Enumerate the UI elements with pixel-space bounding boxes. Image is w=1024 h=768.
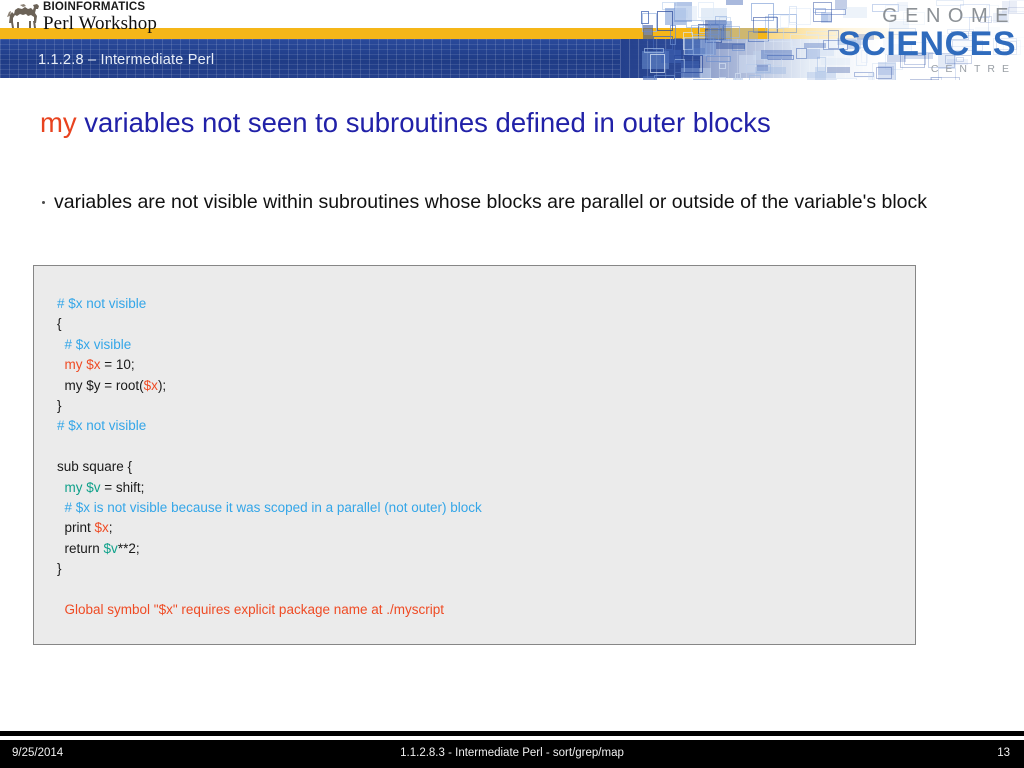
code-line: return $v**2;: [57, 539, 482, 559]
mosaic-block: [644, 48, 664, 53]
code-line: my $v = shift;: [57, 478, 482, 498]
mosaic-block: [817, 49, 834, 56]
slide-header: BIOINFORMATICS Perl Workshop 1.1.2.8 – I…: [0, 0, 1024, 80]
mosaic-block: [807, 72, 836, 80]
code-token: # $x not visible: [57, 418, 146, 433]
gsc-line-centre: CENTRE: [838, 64, 1016, 75]
footer-title: 1.1.2.8.3 - Intermediate Perl - sort/gre…: [0, 747, 1024, 759]
mosaic-block: [836, 78, 857, 80]
code-line: Global symbol "$x" requires explicit pac…: [57, 600, 482, 620]
code-line: # $x not visible: [57, 416, 482, 436]
code-token: Global symbol "$x" requires explicit pac…: [65, 602, 445, 617]
mosaic-block: [719, 63, 726, 69]
code-line: [57, 437, 482, 457]
code-token: return: [65, 541, 104, 556]
code-token: **2;: [118, 541, 140, 556]
bullet-dot-icon: [42, 201, 45, 204]
mosaic-block: [650, 54, 665, 73]
code-line: # $x is not visible because it was scope…: [57, 498, 482, 518]
bullet-item: variables are not visible within subrout…: [42, 188, 972, 218]
mosaic-block: [708, 21, 732, 41]
mosaic-block: [706, 56, 731, 62]
title-rest: variables not seen to subroutines define…: [77, 107, 771, 138]
code-token: my $v: [65, 480, 101, 495]
code-token: my $x: [65, 357, 101, 372]
page-title: my variables not seen to subroutines def…: [40, 103, 890, 142]
title-keyword: my: [40, 107, 77, 138]
code-token: ;: [109, 520, 113, 535]
mosaic-block: [739, 55, 756, 73]
mosaic-block: [719, 77, 726, 80]
perl-workshop-logo: BIOINFORMATICS Perl Workshop: [6, 1, 157, 31]
code-token: }: [57, 398, 62, 413]
code-line: print $x;: [57, 518, 482, 538]
code-line: # $x not visible: [57, 294, 482, 314]
code-token: $x: [95, 520, 109, 535]
mosaic-block: [733, 78, 743, 80]
logo-line-2: Perl Workshop: [43, 14, 157, 34]
code-content: # $x not visible{ # $x visible my $x = 1…: [57, 294, 482, 621]
code-line: [57, 580, 482, 600]
code-line: my $y = root($x);: [57, 376, 482, 396]
code-token: # $x visible: [65, 337, 132, 352]
code-token: sub square {: [57, 459, 132, 474]
mosaic-block: [813, 8, 826, 13]
mosaic-block: [749, 75, 761, 80]
code-token: }: [57, 561, 62, 576]
footer-divider: [0, 731, 1024, 736]
code-token: # $x not visible: [57, 296, 146, 311]
mosaic-block: [761, 50, 792, 59]
mosaic-block: [698, 2, 714, 18]
logo-line-1: BIOINFORMATICS: [43, 2, 157, 14]
mosaic-block: [643, 25, 653, 41]
code-token: {: [57, 316, 62, 331]
code-line: }: [57, 396, 482, 416]
mosaic-block: [731, 28, 758, 40]
mosaic-block: [716, 43, 745, 49]
code-line: # $x visible: [57, 335, 482, 355]
code-line: sub square {: [57, 457, 482, 477]
mosaic-block: [789, 6, 797, 23]
code-token: = 10;: [101, 357, 135, 372]
code-line: {: [57, 314, 482, 334]
mosaic-block: [755, 67, 786, 74]
code-token: print: [65, 520, 95, 535]
mosaic-block: [796, 48, 807, 59]
slide-footer: 9/25/2014 1.1.2.8.3 - Intermediate Perl …: [0, 740, 1024, 768]
code-token: # $x is not visible because it was scope…: [65, 500, 482, 515]
gsc-line-genome: GENOME: [838, 6, 1016, 26]
mosaic-block: [726, 0, 743, 5]
mosaic-block: [675, 6, 697, 20]
mosaic-block: [674, 55, 703, 73]
code-token: my $y = root(: [65, 378, 144, 393]
mosaic-block: [780, 15, 789, 28]
mosaic-block: [1016, 37, 1024, 47]
code-line: my $x = 10;: [57, 355, 482, 375]
genome-sciences-centre-logo: GENOME SCIENCES CENTRE: [838, 6, 1016, 75]
code-token: );: [158, 378, 166, 393]
code-token: $x: [144, 378, 158, 393]
code-token: = shift;: [101, 480, 145, 495]
mosaic-block: [767, 28, 784, 40]
section-label: 1.1.2.8 – Intermediate Perl: [38, 52, 214, 68]
bullet-text: variables are not visible within subrout…: [54, 188, 927, 218]
mosaic-block: [657, 11, 673, 31]
code-line: }: [57, 559, 482, 579]
footer-page-number: 13: [997, 747, 1010, 759]
code-block: # $x not visible{ # $x visible my $x = 1…: [33, 265, 916, 645]
mosaic-block: [1016, 8, 1024, 14]
camel-icon: [6, 1, 40, 29]
mosaic-block: [654, 75, 675, 80]
code-token: $v: [104, 541, 118, 556]
gsc-line-sciences: SCIENCES: [838, 27, 1016, 61]
mosaic-block: [693, 79, 712, 80]
mosaic-block: [804, 43, 826, 48]
mosaic-block: [641, 11, 649, 24]
mosaic-block: [931, 77, 960, 80]
